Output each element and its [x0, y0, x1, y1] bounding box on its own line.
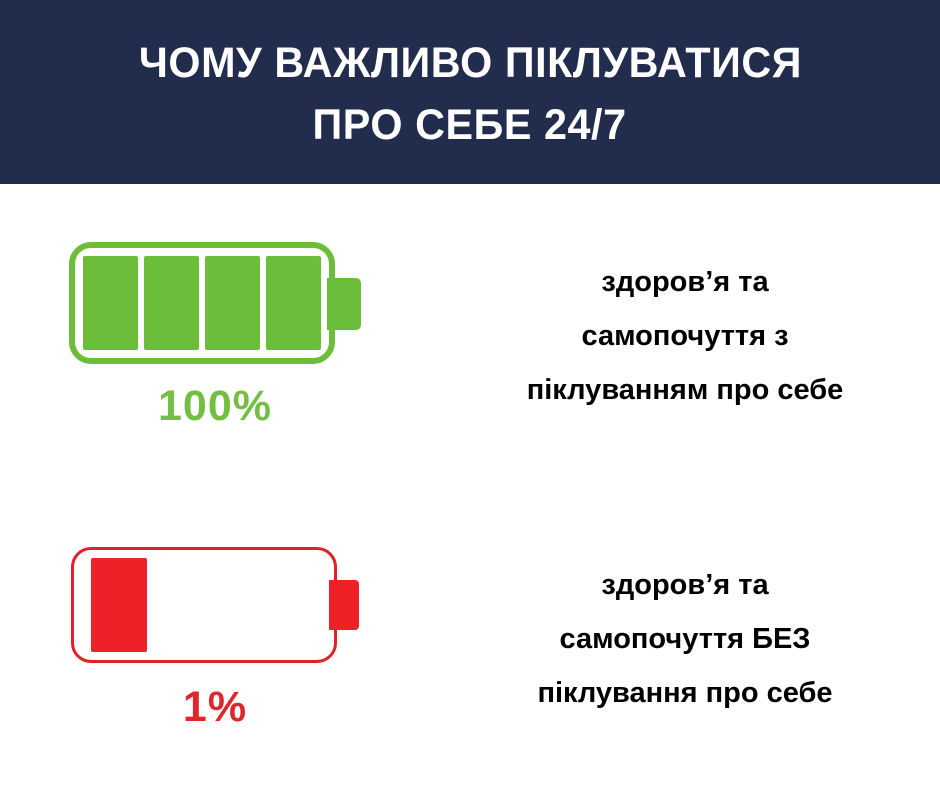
- battery-terminal-nub: [329, 580, 359, 630]
- low-battery-caption: здоров’я та самопочуття БЕЗ піклування п…: [430, 558, 940, 720]
- header-title-line-1: ЧОМУ ВАЖЛИВО ПІКЛУВАТИСЯ: [138, 32, 801, 94]
- battery-segments: [91, 558, 317, 652]
- caption-line-3: піклування про себе: [537, 666, 832, 720]
- header-title-line-2: ПРО СЕБЕ 24/7: [313, 94, 627, 156]
- battery-low-icon: [71, 547, 359, 663]
- low-battery-icon-column: 1%: [0, 547, 430, 732]
- full-battery-caption: здоров’я та самопочуття з піклуванням пр…: [430, 255, 940, 417]
- battery-full-icon: [69, 242, 361, 364]
- battery-segment: [205, 256, 260, 350]
- full-battery-graphic: [69, 242, 361, 364]
- battery-segment: [144, 256, 199, 350]
- row-low-battery: 1% здоров’я та самопочуття БЕЗ піклуванн…: [0, 490, 940, 788]
- caption-line-1: здоров’я та: [601, 255, 768, 309]
- full-battery-percent-label: 100%: [158, 382, 272, 431]
- battery-segment: [91, 558, 147, 652]
- full-battery-icon-column: 100%: [0, 242, 430, 431]
- header-banner: ЧОМУ ВАЖЛИВО ПІКЛУВАТИСЯ ПРО СЕБЕ 24/7: [0, 0, 940, 184]
- caption-line-2: самопочуття з: [581, 309, 788, 363]
- battery-segment: [266, 256, 321, 350]
- battery-terminal-nub: [327, 278, 361, 330]
- caption-line-1: здоров’я та: [601, 558, 768, 612]
- battery-segment: [83, 256, 138, 350]
- row-full-battery: 100% здоров’я та самопочуття з піклуванн…: [0, 186, 940, 486]
- caption-line-2: самопочуття БЕЗ: [560, 612, 811, 666]
- low-battery-graphic: [71, 547, 359, 663]
- low-battery-percent-label: 1%: [183, 683, 247, 732]
- infographic-page: ЧОМУ ВАЖЛИВО ПІКЛУВАТИСЯ ПРО СЕБЕ 24/7 1…: [0, 0, 940, 788]
- battery-segments: [83, 256, 321, 350]
- caption-line-3: піклуванням про себе: [527, 363, 844, 417]
